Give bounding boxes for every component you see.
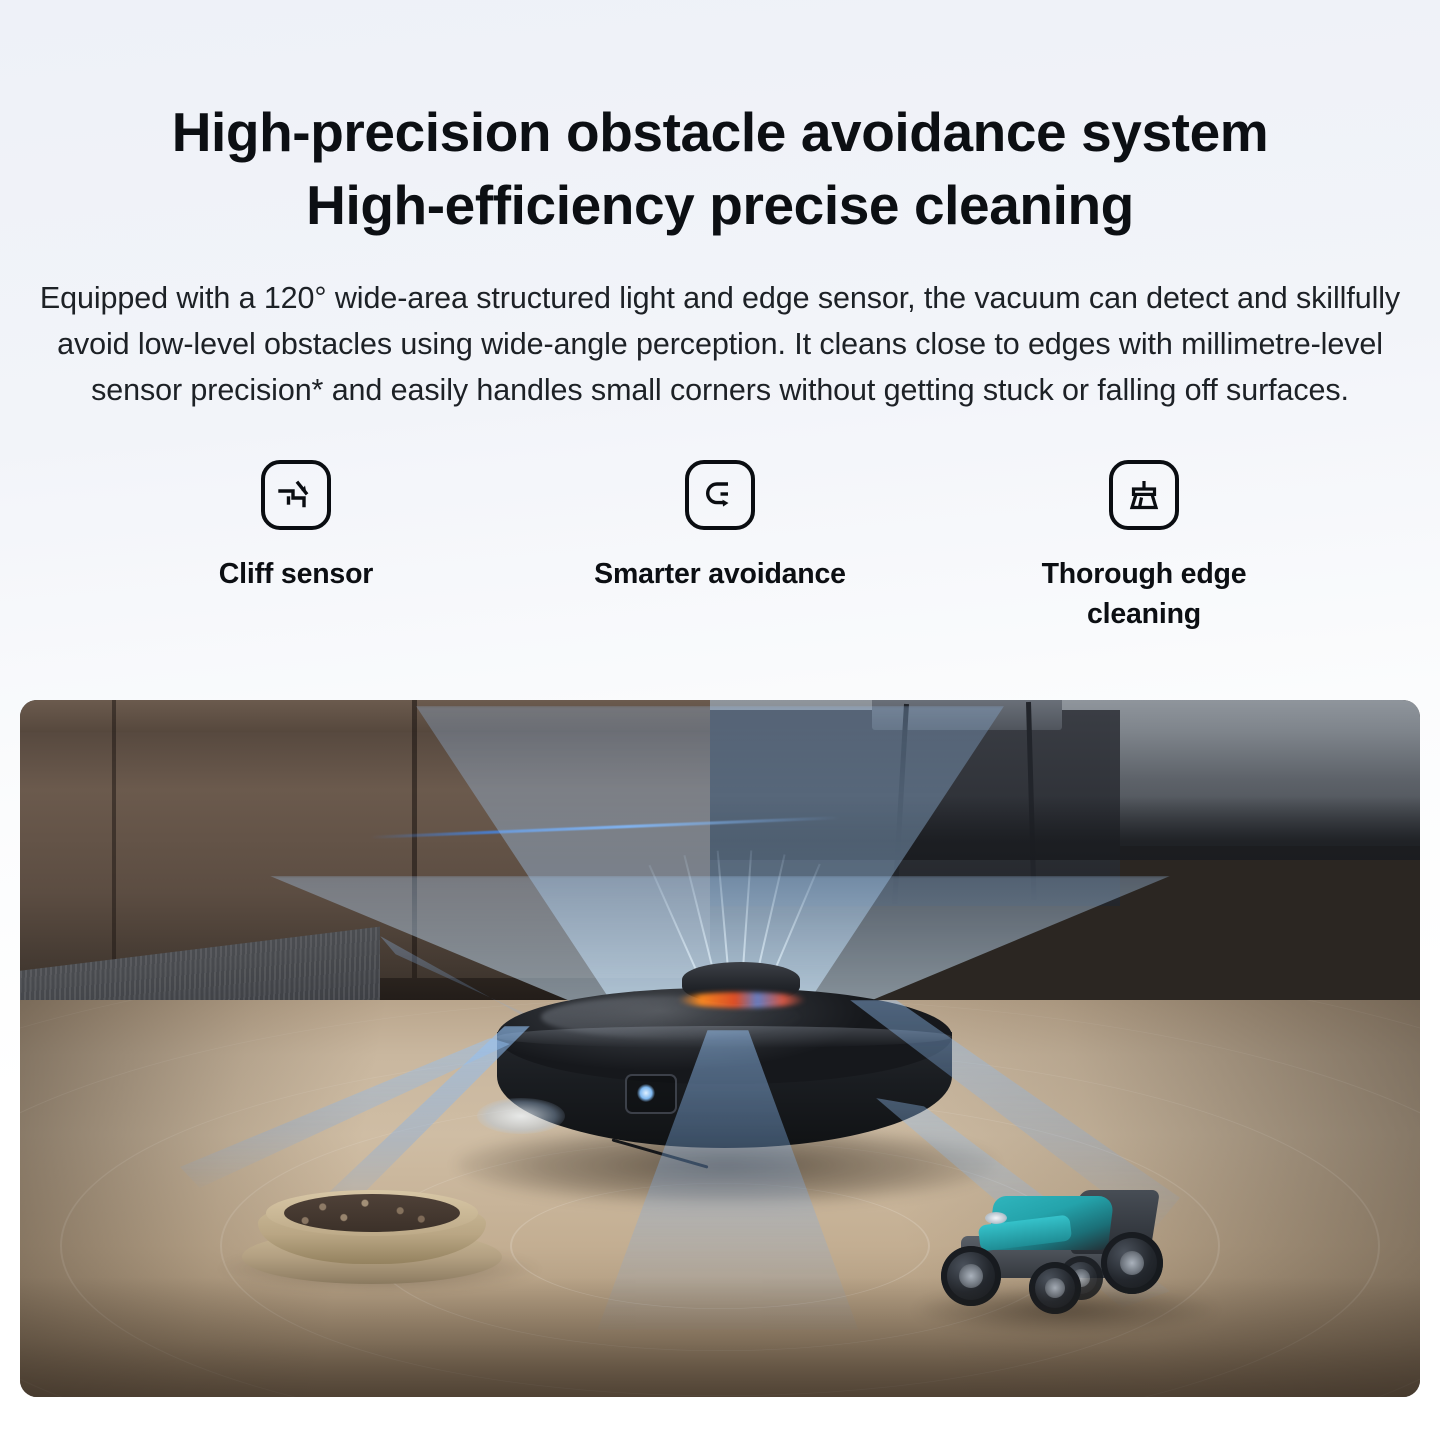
floor-vignette: [20, 1277, 1420, 1397]
truck-headlight: [985, 1212, 1007, 1224]
feature-list: Cliff sensor Smarter avoidance: [0, 460, 1440, 635]
product-feature-page: High-precision obstacle avoidance system…: [0, 0, 1440, 1440]
description-paragraph: Equipped with a 120° wide-area structure…: [15, 276, 1425, 413]
broom-edge-cleaning-icon: [1109, 460, 1179, 530]
feature-item-edge-cleaning: Thorough edge cleaning: [932, 460, 1356, 635]
sofa-seam: [412, 700, 417, 1020]
headline-line-2: High-efficiency precise cleaning: [0, 169, 1440, 242]
hero-scene: [20, 700, 1420, 1397]
feature-label-edge-cleaning: Thorough edge cleaning: [1014, 554, 1274, 635]
feature-item-smarter-avoidance: Smarter avoidance: [508, 460, 932, 594]
lidar-glow: [678, 992, 806, 1008]
headline-line-1: High-precision obstacle avoidance system: [172, 101, 1269, 163]
pet-food-bowl: [242, 1186, 502, 1286]
pet-food-kibble: [284, 1194, 460, 1232]
hero-image: [20, 700, 1420, 1397]
cliff-sensor-stairs-icon: [261, 460, 331, 530]
page-title: High-precision obstacle avoidance system…: [0, 0, 1440, 242]
wheel-hub: [1120, 1251, 1145, 1276]
feature-label-smarter-avoidance: Smarter avoidance: [594, 554, 846, 594]
feature-label-cliff-sensor: Cliff sensor: [219, 554, 373, 594]
wooden-pedestal: [1060, 700, 1212, 978]
u-turn-avoidance-icon: [685, 460, 755, 530]
robot-sensor-glow: [637, 1084, 655, 1102]
feature-item-cliff-sensor: Cliff sensor: [84, 460, 508, 594]
side-brush: [477, 1098, 565, 1134]
